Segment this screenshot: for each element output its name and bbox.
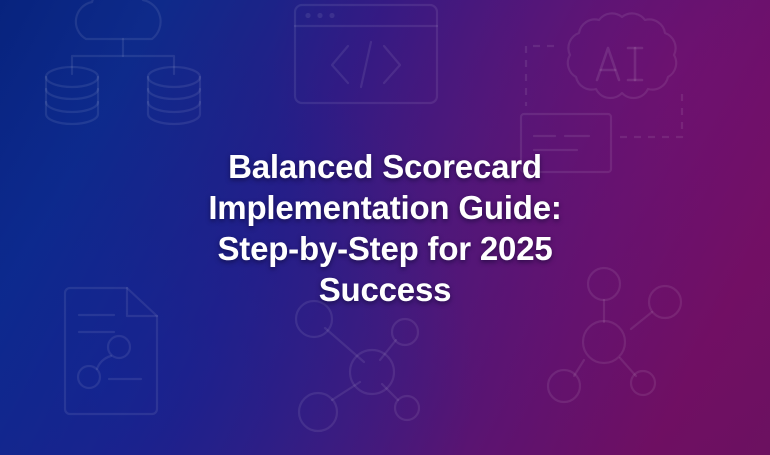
page-title: Balanced Scorecard Implementation Guide:… — [175, 146, 595, 310]
hero-banner: Balanced Scorecard Implementation Guide:… — [0, 0, 770, 455]
title-container: Balanced Scorecard Implementation Guide:… — [0, 0, 770, 455]
